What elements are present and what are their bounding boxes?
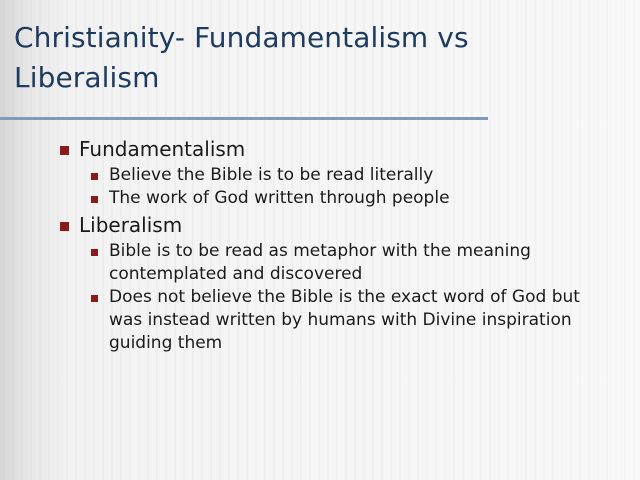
bullet-group: Liberalism Bible is to be read as metaph… — [60, 212, 630, 355]
bullet-group: Fundamentalism Believe the Bible is to b… — [60, 136, 630, 210]
slide-title: Christianity- Fundamentalism vs Liberali… — [14, 18, 614, 98]
square-bullet-icon — [60, 136, 79, 155]
bullet-item-level2: Believe the Bible is to be read literall… — [91, 164, 630, 187]
bullet-item-level2: The work of God written through people — [91, 187, 630, 210]
bullet-item-level2: Bible is to be read as metaphor with the… — [91, 240, 630, 286]
bullet-text: Liberalism — [79, 212, 182, 239]
bullet-text: Does not believe the Bible is the exact … — [109, 286, 601, 355]
presentation-slide: Christianity- Fundamentalism vs Liberali… — [0, 0, 640, 480]
square-bullet-icon — [60, 212, 79, 231]
square-bullet-icon — [91, 187, 109, 203]
bullet-text: Fundamentalism — [79, 136, 245, 163]
square-bullet-icon — [91, 240, 109, 256]
title-divider-rule — [0, 117, 488, 120]
slide-content: Christianity- Fundamentalism vs Liberali… — [0, 0, 640, 480]
bullet-item-level2: Does not believe the Bible is the exact … — [91, 286, 630, 355]
bullet-text: Bible is to be read as metaphor with the… — [109, 240, 601, 286]
slide-body: Fundamentalism Believe the Bible is to b… — [60, 136, 630, 357]
square-bullet-icon — [91, 286, 109, 302]
bullet-text: Believe the Bible is to be read literall… — [109, 164, 433, 187]
square-bullet-icon — [91, 164, 109, 180]
bullet-item-level1: Liberalism — [60, 212, 630, 239]
bullet-text: The work of God written through people — [109, 187, 450, 210]
bullet-item-level1: Fundamentalism — [60, 136, 630, 163]
